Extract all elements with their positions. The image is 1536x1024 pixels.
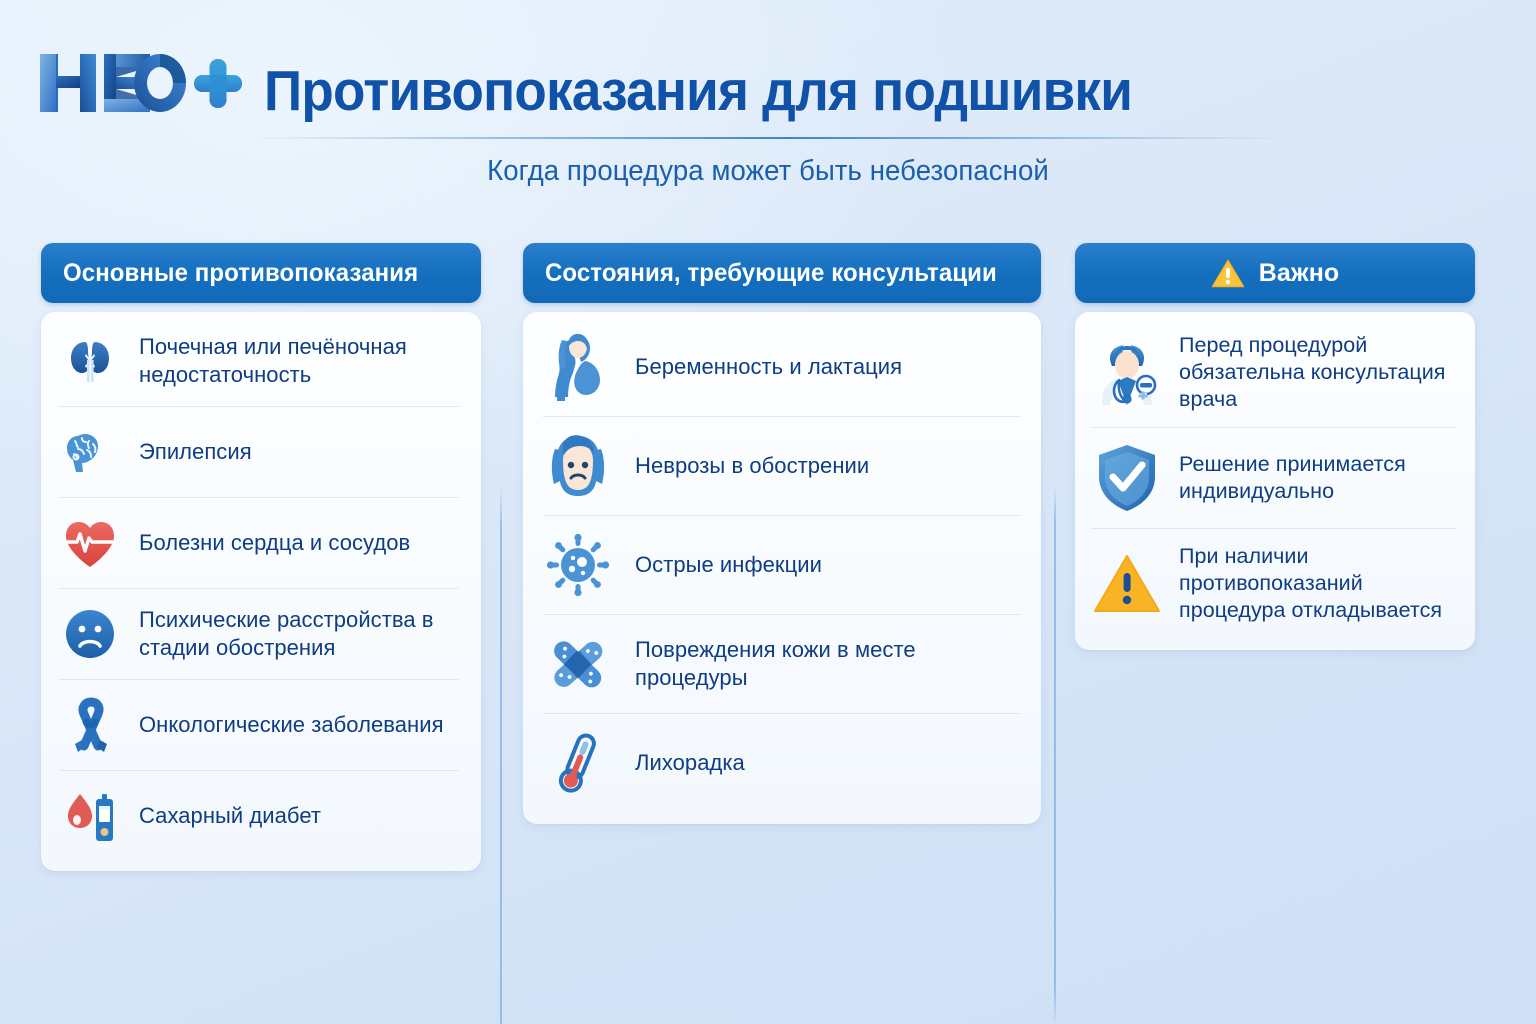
neo-plus-logo-icon [34, 44, 244, 122]
virus-icon [543, 530, 613, 600]
list-item[interactable]: При наличии противопоказаний процедура о… [1091, 529, 1457, 638]
column-header-label: Состояния, требующие консультации [545, 259, 997, 288]
list-item[interactable]: Онкологические заболевания [59, 680, 459, 771]
column-header-important: Важно [1075, 243, 1475, 303]
card-conditions: Беременность и лактация Неврозы в [523, 312, 1041, 824]
list-item[interactable]: Беременность и лактация [543, 318, 1021, 417]
list-item[interactable]: Болезни сердца и сосудов [59, 498, 459, 589]
list-item-label: Болезни сердца и сосудов [139, 529, 410, 557]
list-item-label: При наличии противопоказаний процедура о… [1179, 543, 1457, 624]
list-item-label: Острые инфекции [635, 551, 822, 579]
card-important: Перед процедурой обязательна консультаци… [1075, 312, 1475, 650]
column-divider-2 [1054, 486, 1056, 1024]
warning-triangle-icon [1091, 548, 1163, 620]
list-item-label: Почечная или печёночная недостаточность [139, 333, 459, 388]
column-header-main-contraindications: Основные противопоказания [41, 243, 481, 303]
thermometer-icon [543, 728, 613, 798]
kidneys-icon [59, 330, 121, 392]
warning-triangle-icon [1211, 258, 1245, 289]
blood-drop-glucometer-icon [59, 785, 121, 847]
page-header: Противопоказания для подшивки Когда проц… [0, 0, 1536, 215]
column-header-label: Важно [1259, 259, 1340, 288]
heart-pulse-icon [59, 512, 121, 574]
list-item-label: Лихорадка [635, 749, 745, 777]
page-title: Противопоказания для подшивки [264, 63, 1132, 122]
shield-check-icon [1091, 442, 1163, 514]
list-item[interactable]: Лихорадка [543, 714, 1021, 812]
column-conditions-requiring-consultation: Состояния, требующие консультации [523, 243, 1041, 824]
list-item-label: Повреждения кожи в месте процедуры [635, 636, 1021, 691]
column-header-label: Основные противопоказания [63, 259, 418, 288]
list-item[interactable]: Эпилепсия [59, 407, 459, 498]
list-item[interactable]: Неврозы в обострении [543, 417, 1021, 516]
doctor-icon [1091, 337, 1163, 409]
pregnant-woman-icon [543, 332, 613, 402]
list-item-label: Эпилепсия [139, 438, 252, 466]
column-divider-1 [500, 486, 502, 1024]
column-main-contraindications: Основные противопоказания Почечная или п… [41, 243, 481, 871]
distressed-face-icon [543, 431, 613, 501]
title-divider [246, 137, 1288, 139]
list-item-label: Беременность и лактация [635, 353, 902, 381]
list-item[interactable]: Почечная или печёночная недостаточность [59, 316, 459, 407]
awareness-ribbon-icon [59, 694, 121, 756]
column-important: Важно [1075, 243, 1475, 650]
bandages-icon [543, 629, 613, 699]
sad-face-icon [59, 603, 121, 665]
column-header-conditions: Состояния, требующие консультации [523, 243, 1041, 303]
list-item[interactable]: Психические расстройства в стадии обостр… [59, 589, 459, 680]
brand-row: Противопоказания для подшивки [34, 44, 1197, 122]
list-item[interactable]: Острые инфекции [543, 516, 1021, 615]
list-item-label: Психические расстройства в стадии обостр… [139, 606, 459, 661]
list-item-label: Неврозы в обострении [635, 452, 869, 480]
list-item[interactable]: Сахарный диабет [59, 771, 459, 861]
list-item-label: Перед процедурой обязательна консультаци… [1179, 332, 1457, 413]
list-item[interactable]: Повреждения кожи в месте процедуры [543, 615, 1021, 714]
content-columns: Основные противопоказания Почечная или п… [0, 243, 1536, 943]
list-item-label: Сахарный диабет [139, 802, 321, 830]
list-item[interactable]: Перед процедурой обязательна консультаци… [1091, 318, 1457, 428]
list-item[interactable]: Решение принимается индивидуально [1091, 428, 1457, 529]
list-item-label: Решение принимается индивидуально [1179, 451, 1457, 505]
page-subtitle: Когда процедура может быть небезопасной [38, 155, 1497, 188]
brain-icon [59, 421, 121, 483]
list-item-label: Онкологические заболевания [139, 711, 444, 739]
card-main-contraindications: Почечная или печёночная недостаточность … [41, 312, 481, 871]
